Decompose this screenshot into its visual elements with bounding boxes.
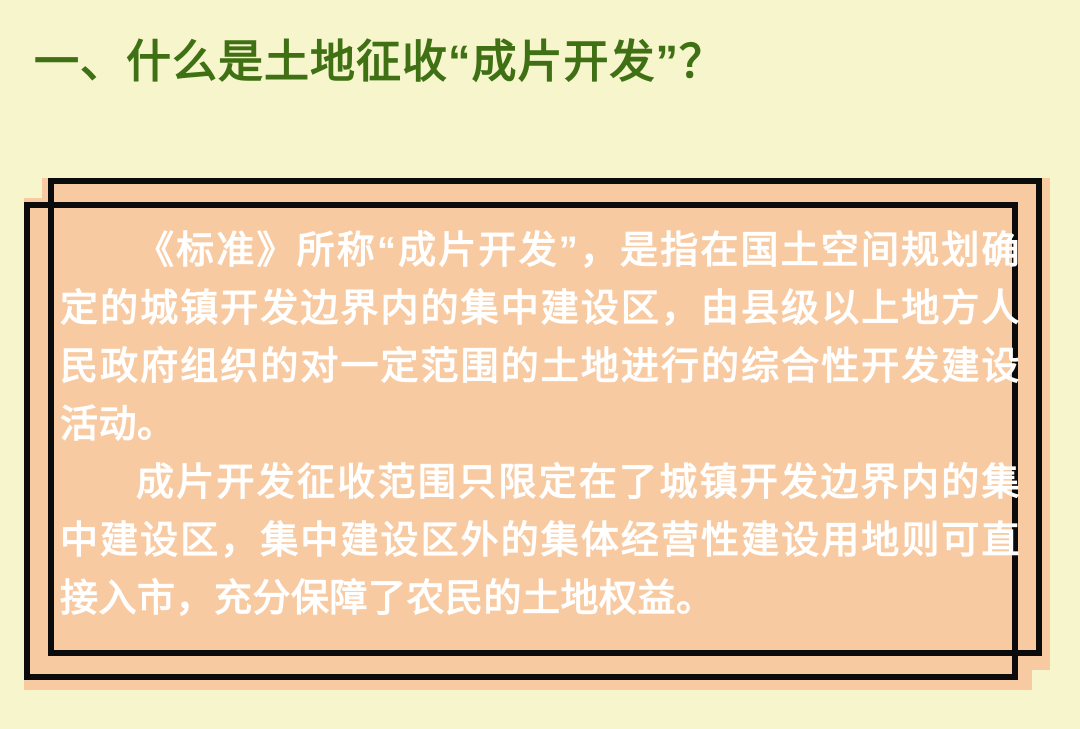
paragraph-scope: 成片开发征收范围只限定在了城镇开发边界内的集中建设区，集中建设区外的集体经营性建… [60,454,1020,628]
poster-root: 一、什么是土地征收“成片开发”？ 《标准》所称“成片开发”，是指在国土空间规划确… [0,0,1080,729]
card-body-text: 《标准》所称“成片开发”，是指在国土空间规划确定的城镇开发边界内的集中建设区，由… [60,222,1020,662]
content-card: 《标准》所称“成片开发”，是指在国土空间规划确定的城镇开发边界内的集中建设区，由… [0,160,1080,720]
page-title: 一、什么是土地征收“成片开发”？ [34,28,725,96]
paragraph-definition: 《标准》所称“成片开发”，是指在国土空间规划确定的城镇开发边界内的集中建设区，由… [60,222,1020,454]
heading-section: 一、什么是土地征收“成片开发”？ [0,28,1080,118]
